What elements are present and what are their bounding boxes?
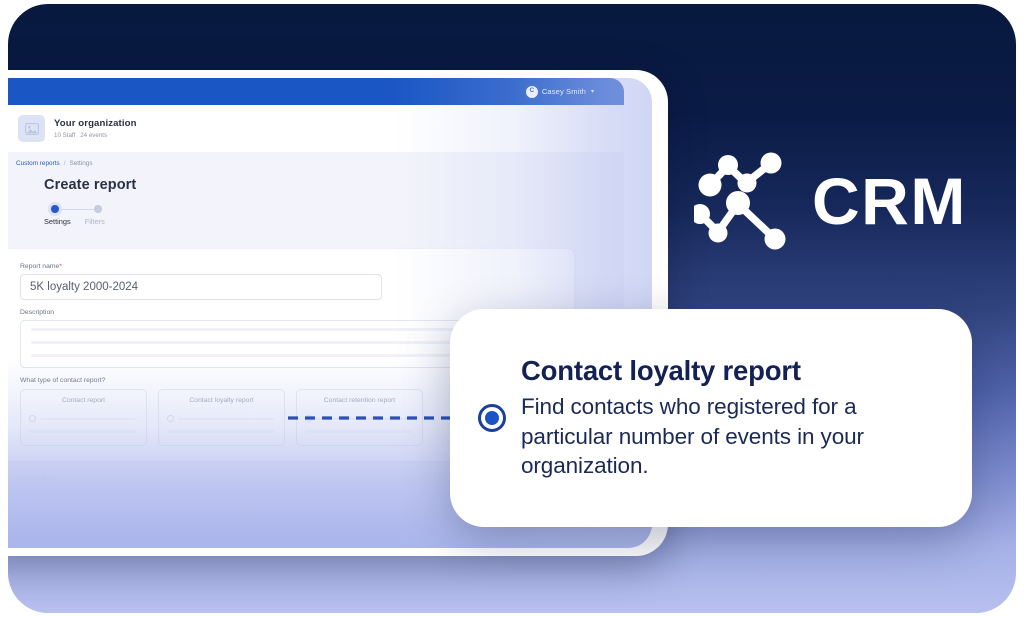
stat-events: 24 events [80,132,107,139]
stepper-dot-filters[interactable] [94,205,102,213]
faded-field-label: License type [16,475,55,482]
breadcrumb: Custom reports / Settings [16,160,93,167]
report-name-input[interactable]: 5K loyalty 2000-2024 [20,274,382,300]
skeleton-line [167,430,274,433]
radio-icon[interactable] [29,415,36,422]
stepper: Settings Filters [44,204,164,226]
callout-connector-line [287,416,463,419]
callout-text: Contact loyalty report Find contacts who… [521,355,942,481]
stepper-dot-settings[interactable] [51,205,59,213]
skeleton-line [31,354,489,357]
report-name-field-group: Report name* 5K loyalty 2000-2024 [20,263,558,300]
breadcrumb-item-custom-reports[interactable]: Custom reports [16,160,60,167]
organization-name: Your organization [54,118,137,129]
option-label: Contact report [30,397,137,404]
breadcrumb-separator: / [64,160,66,167]
callout-body: Find contacts who registered for a parti… [521,392,942,481]
screenshot-stage: C Casey Smith ▾ Your organization [0,0,1024,617]
report-name-label: Report name* [20,263,558,270]
required-marker: * [59,263,62,270]
callout-title: Contact loyalty report [521,355,942,387]
radio-inner-dot [485,411,499,425]
chevron-down-icon: ▾ [591,89,594,95]
skeleton-line [305,430,412,433]
stepper-connector [54,209,96,210]
organization-stats: 10 Staff 24 events [54,132,137,139]
user-menu-label: Casey Smith [542,87,586,96]
organization-header: Your organization 10 Staff 24 events [8,105,624,152]
tab-filters[interactable]: Filters [85,217,105,226]
tab-settings[interactable]: Settings [44,217,71,226]
option-label: Contact loyalty report [168,397,275,404]
skeleton-line [31,328,509,331]
report-type-option-contact-loyalty-report[interactable]: Contact loyalty report [158,389,285,446]
stepper-labels: Settings Filters [44,217,164,226]
crm-logo: CRM [694,152,967,250]
radio-selected-icon[interactable] [478,404,506,432]
network-nodes-icon [694,152,790,250]
page-title: Create report [44,177,136,193]
skeleton-line [178,418,274,421]
user-menu[interactable]: C Casey Smith ▾ [526,86,594,98]
stepper-track [44,204,164,214]
report-type-option-contact-report[interactable]: Contact report [20,389,147,446]
organization-text: Your organization 10 Staff 24 events [54,118,137,139]
image-placeholder-icon [18,115,45,142]
skeleton-line [29,430,136,433]
crm-wordmark: CRM [812,168,967,234]
background-gradient-plate: C Casey Smith ▾ Your organization [8,4,1016,613]
stat-staff: 10 Staff [54,132,75,139]
skeleton-line [40,418,136,421]
app-top-bar: C Casey Smith ▾ [8,78,624,105]
callout-card: Contact loyalty report Find contacts who… [450,309,972,527]
option-label: Contact retention report [306,397,413,404]
breadcrumb-item-settings: Settings [69,160,92,167]
radio-icon[interactable] [167,415,174,422]
avatar: C [526,86,538,98]
